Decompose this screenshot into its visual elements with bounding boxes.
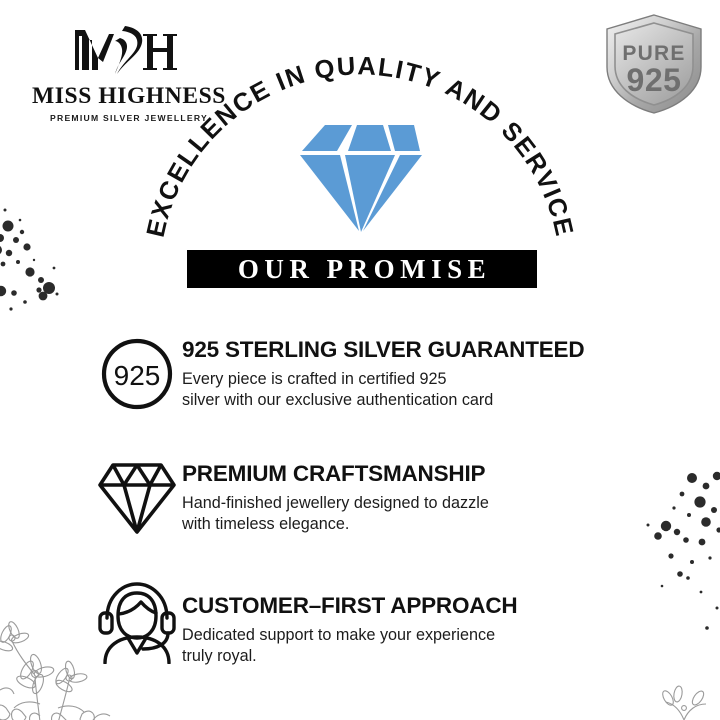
feature-icon-wrap xyxy=(95,454,179,538)
feature-text-wrap: PREMIUM CRAFTSMANSHIP Hand-finished jewe… xyxy=(179,454,680,536)
feature-description-line-1: Every piece is crafted in certified 925 xyxy=(182,369,602,391)
promise-feature-list: 925 925 STERLING SILVER GUARANTEED Every… xyxy=(95,332,680,668)
feature-text-wrap: CUSTOMER–FIRST APPROACH Dedicated suppor… xyxy=(179,576,680,668)
pure-925-badge: PURE 925 xyxy=(602,12,706,116)
feature-description-line-2: with timeless elegance. xyxy=(182,514,602,536)
feature-item-customer-first: CUSTOMER–FIRST APPROACH Dedicated suppor… xyxy=(95,576,680,668)
feature-description-line-1: Hand-finished jewellery designed to dazz… xyxy=(182,493,602,515)
feature-description: Every piece is crafted in certified 925 … xyxy=(182,369,602,412)
circle-925-label: 925 xyxy=(114,360,161,391)
headset-agent-icon xyxy=(97,580,177,664)
feature-title: CUSTOMER–FIRST APPROACH xyxy=(182,594,680,618)
circle-925-icon: 925 xyxy=(99,336,175,412)
our-promise-banner: OUR PROMISE xyxy=(187,250,537,288)
speckle-decoration-left xyxy=(0,196,124,331)
feature-icon-wrap: 925 xyxy=(95,332,179,416)
feature-description-line-2: silver with our exclusive authentication… xyxy=(182,390,602,412)
feature-description: Dedicated support to make your experienc… xyxy=(182,625,602,668)
feature-description-line-1: Dedicated support to make your experienc… xyxy=(182,625,602,647)
diamond-outline-icon xyxy=(97,458,177,536)
feature-text-wrap: 925 STERLING SILVER GUARANTEED Every pie… xyxy=(179,332,680,412)
feature-icon-wrap xyxy=(95,576,179,660)
feature-description: Hand-finished jewellery designed to dazz… xyxy=(182,493,602,536)
diamond-icon xyxy=(296,118,426,236)
floral-decoration-bottom-right xyxy=(654,674,714,720)
feature-item-craftsmanship: PREMIUM CRAFTSMANSHIP Hand-finished jewe… xyxy=(95,454,680,538)
feature-title: 925 STERLING SILVER GUARANTEED xyxy=(182,338,680,362)
our-promise-label: OUR PROMISE xyxy=(233,254,491,285)
badge-line-2: 925 xyxy=(627,62,682,98)
feature-item-sterling-silver: 925 925 STERLING SILVER GUARANTEED Every… xyxy=(95,332,680,416)
shield-icon: PURE 925 xyxy=(602,12,706,116)
hero-diamond xyxy=(296,118,426,236)
feature-title: PREMIUM CRAFTSMANSHIP xyxy=(182,462,680,486)
feature-description-line-2: truly royal. xyxy=(182,646,602,668)
promise-infographic-page: MISS HIGHNESS PREMIUM SILVER JEWELLERY xyxy=(0,0,720,720)
